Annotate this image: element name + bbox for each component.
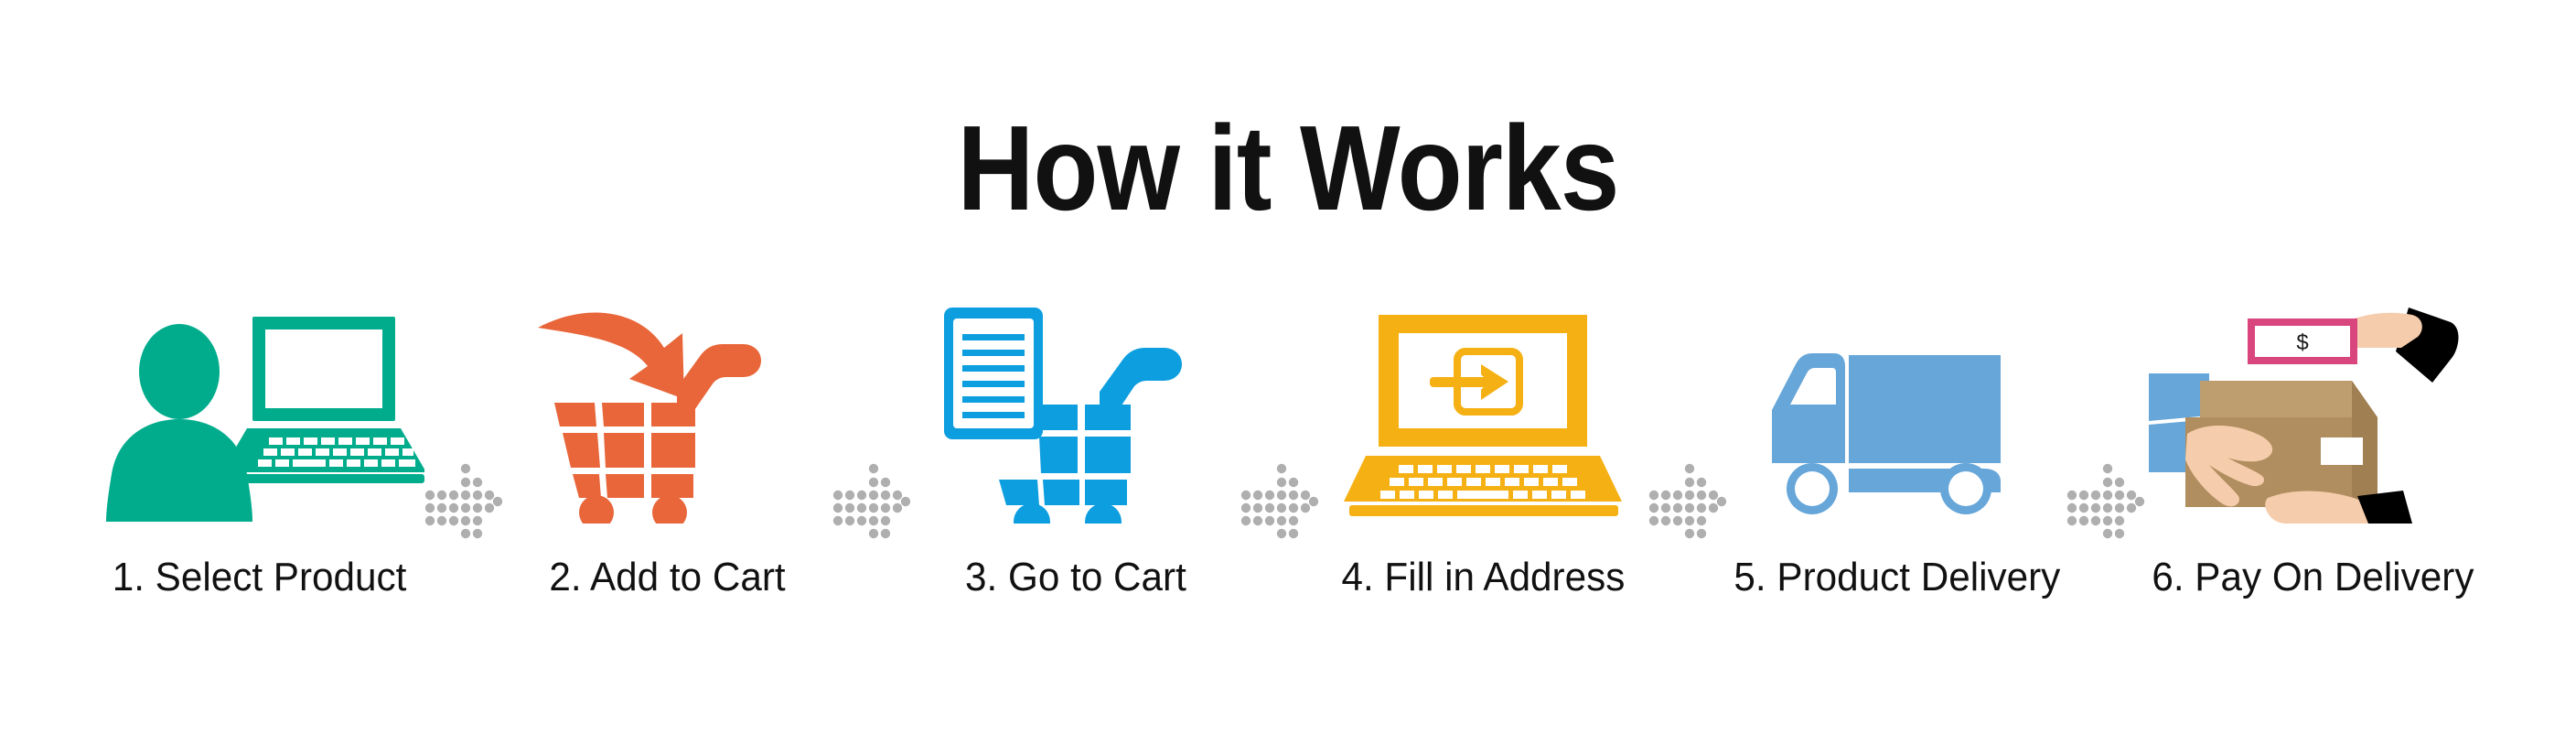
delivery-truck-icon bbox=[1733, 304, 2062, 524]
step-3-go-to-cart[interactable]: 3. Go to Cart bbox=[911, 304, 1240, 600]
dotted-arrow-right-icon bbox=[2066, 392, 2145, 611]
separator-4 bbox=[1648, 304, 1727, 611]
dotted-arrow-right-icon bbox=[832, 392, 911, 611]
separator-3 bbox=[1240, 304, 1319, 611]
how-it-works-infographic: How it Works bbox=[0, 0, 2576, 745]
dotted-arrow-right-icon bbox=[1240, 392, 1319, 611]
banknote-dollar-sign: $ bbox=[2296, 330, 2308, 355]
steps-row: 1. Select Product bbox=[37, 304, 2539, 611]
box-top bbox=[2200, 381, 2377, 417]
page-title: How it Works bbox=[155, 108, 2421, 229]
step-1-select-product[interactable]: 1. Select Product bbox=[95, 304, 424, 600]
person-with-laptop-icon bbox=[95, 304, 424, 524]
shopping-cart-with-arrow-icon bbox=[503, 304, 832, 524]
step-5-product-delivery[interactable]: 5. Product Delivery bbox=[1727, 304, 2067, 600]
step-2-add-to-cart[interactable]: 2. Add to Cart bbox=[503, 304, 832, 600]
separator-1 bbox=[424, 304, 503, 611]
separator-5 bbox=[2066, 304, 2145, 611]
step-4-fill-in-address[interactable]: 4. Fill in Address bbox=[1319, 304, 1648, 600]
dotted-arrow-right-icon bbox=[424, 392, 503, 611]
step-5-label: 5. Product Delivery bbox=[1733, 555, 2060, 600]
hands-exchanging-box-and-cash-icon: $ bbox=[2149, 304, 2478, 524]
step-3-label: 3. Go to Cart bbox=[965, 555, 1186, 600]
step-6-label: 6. Pay On Delivery bbox=[2152, 555, 2474, 600]
box-label bbox=[2321, 437, 2363, 465]
separator-2 bbox=[832, 304, 911, 611]
laptop-with-login-arrow-icon bbox=[1319, 304, 1648, 524]
step-2-label: 2. Add to Cart bbox=[550, 555, 786, 600]
step-1-label: 1. Select Product bbox=[113, 555, 407, 600]
dotted-arrow-right-icon bbox=[1648, 392, 1727, 611]
document-with-cart-icon bbox=[911, 304, 1240, 524]
step-6-pay-on-delivery[interactable]: $ bbox=[2145, 304, 2481, 600]
step-4-label: 4. Fill in Address bbox=[1342, 555, 1626, 600]
